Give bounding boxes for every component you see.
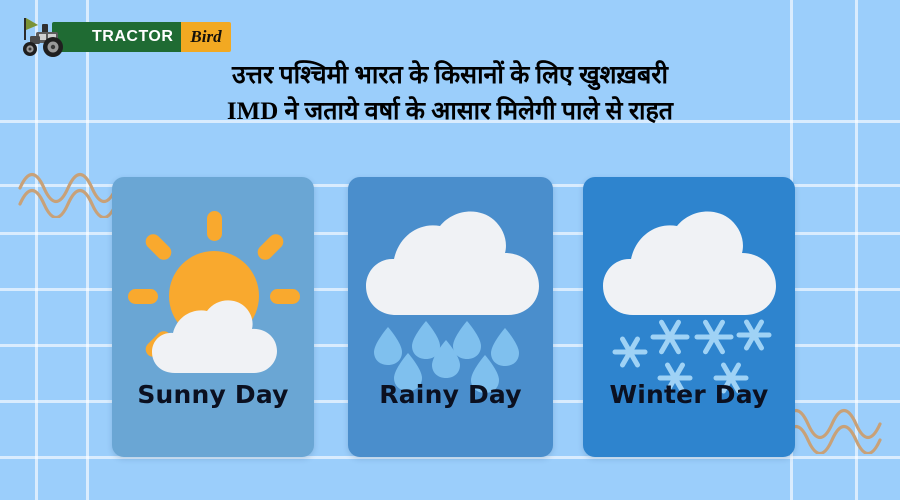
logo-bird-text: Bird	[181, 22, 230, 52]
cloud-with-rain-icon	[348, 195, 553, 395]
headline-line-1: उत्तर पश्चिमी भारत के किसानों के लिए खुश…	[60, 58, 840, 94]
weather-banner: TRACTOR Bird उत्तर पश्चिमी भारत के किसान…	[0, 0, 900, 500]
weather-card-label: Rainy Day	[348, 380, 553, 409]
weather-card-rainy[interactable]: Rainy Day	[348, 177, 553, 457]
tractor-icon	[12, 14, 74, 60]
headline-line-2: IMD ने जताये वर्षा के आसार मिलेगी पाले स…	[60, 94, 840, 130]
page-title: उत्तर पश्चिमी भारत के किसानों के लिए खुश…	[0, 58, 900, 130]
weather-card-label: Winter Day	[583, 380, 795, 409]
weather-card-sunny[interactable]: Sunny Day	[112, 177, 314, 457]
brand-logo[interactable]: TRACTOR Bird	[12, 14, 231, 60]
weather-card-label: Sunny Day	[112, 380, 314, 409]
logo-wordmark: TRACTOR Bird	[52, 22, 231, 52]
wavy-line-decoration-right	[782, 408, 882, 454]
wavy-line-decoration-left	[18, 172, 118, 218]
weather-card-winter[interactable]: Winter Day	[583, 177, 795, 457]
cloud-with-snow-icon	[583, 195, 795, 395]
sun-behind-cloud-icon	[112, 195, 314, 395]
